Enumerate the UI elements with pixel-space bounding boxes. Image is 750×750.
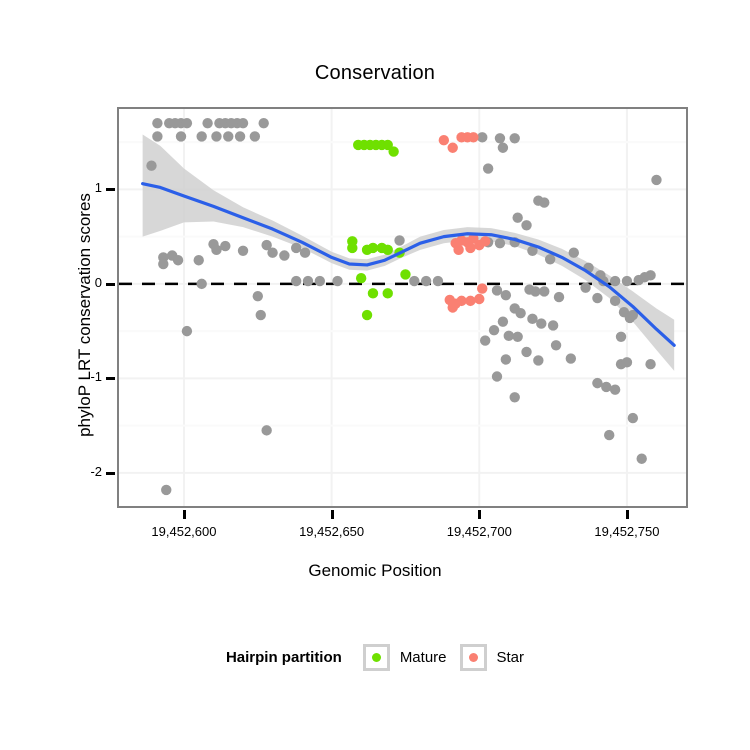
data-point[interactable]	[510, 392, 520, 402]
data-point[interactable]	[368, 243, 378, 253]
data-point[interactable]	[489, 325, 499, 335]
data-point[interactable]	[235, 131, 245, 141]
data-point[interactable]	[616, 332, 626, 342]
data-point[interactable]	[498, 143, 508, 153]
y-axis: 10-1-2	[117, 107, 118, 508]
data-point[interactable]	[394, 235, 404, 245]
data-point[interactable]	[527, 314, 537, 324]
x-axis-tick-label: 19,452,650	[267, 524, 397, 539]
data-point[interactable]	[477, 132, 487, 142]
data-point[interactable]	[651, 175, 661, 185]
x-axis-label: Genomic Position	[0, 561, 750, 581]
data-point[interactable]	[483, 163, 493, 173]
scatter-plot-svg	[119, 109, 686, 506]
data-point[interactable]	[383, 288, 393, 298]
data-point[interactable]	[610, 296, 620, 306]
y-axis-tick	[106, 283, 115, 286]
y-axis-tick	[106, 472, 115, 475]
data-point[interactable]	[152, 131, 162, 141]
data-point[interactable]	[161, 485, 171, 495]
legend-swatch-mature	[363, 644, 390, 671]
data-point[interactable]	[388, 146, 398, 156]
data-point[interactable]	[551, 340, 561, 350]
data-point[interactable]	[261, 240, 271, 250]
data-point[interactable]	[480, 335, 490, 345]
data-point[interactable]	[610, 385, 620, 395]
y-axis-tick-label: 1	[72, 180, 102, 195]
data-point[interactable]	[315, 276, 325, 286]
data-point[interactable]	[610, 276, 620, 286]
x-axis-tick	[626, 510, 629, 519]
legend-title: Hairpin partition	[226, 649, 342, 666]
data-point[interactable]	[569, 247, 579, 257]
data-point[interactable]	[176, 131, 186, 141]
data-point[interactable]	[512, 332, 522, 342]
data-point[interactable]	[194, 255, 204, 265]
data-point[interactable]	[400, 269, 410, 279]
data-point[interactable]	[604, 430, 614, 440]
data-point[interactable]	[580, 282, 590, 292]
data-point[interactable]	[539, 197, 549, 207]
data-point[interactable]	[253, 291, 263, 301]
data-point[interactable]	[456, 296, 466, 306]
data-point[interactable]	[622, 276, 632, 286]
smooth-confidence-band	[143, 135, 675, 371]
data-point[interactable]	[545, 254, 555, 264]
data-point[interactable]	[291, 276, 301, 286]
data-point[interactable]	[448, 302, 458, 312]
x-axis-tick	[183, 510, 186, 519]
y-axis-tick-label: -1	[72, 369, 102, 384]
data-point[interactable]	[368, 288, 378, 298]
data-point[interactable]	[256, 310, 266, 320]
data-point[interactable]	[291, 243, 301, 253]
data-point[interactable]	[495, 238, 505, 248]
data-point[interactable]	[347, 243, 357, 253]
data-point[interactable]	[182, 326, 192, 336]
data-point[interactable]	[495, 133, 505, 143]
legend: Hairpin partition Mature Star	[0, 644, 750, 671]
data-point[interactable]	[303, 276, 313, 286]
x-axis-tick-label: 19,452,600	[119, 524, 249, 539]
data-point[interactable]	[173, 255, 183, 265]
data-point[interactable]	[592, 293, 602, 303]
data-point[interactable]	[259, 118, 269, 128]
series-star	[439, 132, 491, 313]
data-point[interactable]	[465, 243, 475, 253]
data-point[interactable]	[645, 270, 655, 280]
data-point[interactable]	[448, 143, 458, 153]
data-point[interactable]	[536, 318, 546, 328]
data-point[interactable]	[501, 290, 511, 300]
data-point[interactable]	[439, 135, 449, 145]
data-point[interactable]	[512, 213, 522, 223]
data-point[interactable]	[521, 220, 531, 230]
data-point[interactable]	[421, 276, 431, 286]
x-axis-tick-label: 19,452,750	[562, 524, 692, 539]
data-point[interactable]	[501, 354, 511, 364]
data-point[interactable]	[492, 285, 502, 295]
data-point[interactable]	[383, 245, 393, 255]
y-axis-tick	[106, 377, 115, 380]
data-point[interactable]	[521, 347, 531, 357]
legend-dot-star	[469, 653, 478, 662]
data-point[interactable]	[468, 132, 478, 142]
data-point[interactable]	[498, 316, 508, 326]
data-point[interactable]	[196, 279, 206, 289]
data-point[interactable]	[300, 247, 310, 257]
data-point[interactable]	[433, 276, 443, 286]
legend-key-mature[interactable]: Mature	[363, 644, 447, 671]
data-point[interactable]	[480, 236, 490, 246]
x-axis: 19,452,60019,452,65019,452,70019,452,750	[117, 510, 688, 550]
plot-panel	[117, 107, 688, 508]
data-point[interactable]	[492, 371, 502, 381]
data-point[interactable]	[530, 286, 540, 296]
data-point[interactable]	[645, 359, 655, 369]
data-point[interactable]	[362, 310, 372, 320]
legend-dot-mature	[372, 653, 381, 662]
data-point[interactable]	[332, 276, 342, 286]
chart-title: Conservation	[0, 62, 750, 85]
data-point[interactable]	[261, 425, 271, 435]
legend-label-star: Star	[497, 649, 525, 666]
chart-root: Conservation phyloP LRT conservation sco…	[0, 0, 750, 750]
grid-lines	[119, 109, 686, 506]
data-point[interactable]	[220, 241, 230, 251]
y-axis-label: phyloP LRT conservation scores	[75, 115, 95, 515]
data-point[interactable]	[152, 118, 162, 128]
data-point[interactable]	[196, 131, 206, 141]
x-axis-tick	[331, 510, 334, 519]
data-point[interactable]	[250, 131, 260, 141]
data-point[interactable]	[548, 320, 558, 330]
data-point[interactable]	[554, 292, 564, 302]
data-point[interactable]	[211, 245, 221, 255]
data-point[interactable]	[628, 413, 638, 423]
data-point[interactable]	[477, 283, 487, 293]
data-point[interactable]	[238, 246, 248, 256]
data-point[interactable]	[182, 118, 192, 128]
data-point[interactable]	[223, 131, 233, 141]
y-axis-tick	[106, 188, 115, 191]
data-point[interactable]	[158, 259, 168, 269]
data-point[interactable]	[146, 161, 156, 171]
data-point[interactable]	[465, 296, 475, 306]
x-axis-tick	[478, 510, 481, 519]
data-point[interactable]	[238, 118, 248, 128]
data-point[interactable]	[510, 133, 520, 143]
data-point[interactable]	[622, 357, 632, 367]
data-point[interactable]	[474, 294, 484, 304]
data-point[interactable]	[279, 250, 289, 260]
data-point[interactable]	[637, 454, 647, 464]
legend-swatch-star	[460, 644, 487, 671]
legend-label-mature: Mature	[400, 649, 447, 666]
plot-area	[119, 109, 686, 506]
data-point[interactable]	[601, 382, 611, 392]
data-point[interactable]	[515, 308, 525, 318]
data-point[interactable]	[539, 286, 549, 296]
legend-key-star[interactable]: Star	[460, 644, 525, 671]
series-mature	[347, 140, 411, 321]
data-point[interactable]	[592, 378, 602, 388]
y-axis-tick-label: 0	[72, 275, 102, 290]
data-point[interactable]	[409, 276, 419, 286]
y-axis-tick-label: -2	[72, 464, 102, 479]
data-point[interactable]	[566, 353, 576, 363]
x-axis-tick-label: 19,452,700	[414, 524, 544, 539]
data-point[interactable]	[202, 118, 212, 128]
data-point[interactable]	[453, 245, 463, 255]
data-point[interactable]	[211, 131, 221, 141]
data-point[interactable]	[533, 355, 543, 365]
data-point[interactable]	[504, 331, 514, 341]
series-other	[146, 118, 661, 495]
data-point[interactable]	[356, 273, 366, 283]
